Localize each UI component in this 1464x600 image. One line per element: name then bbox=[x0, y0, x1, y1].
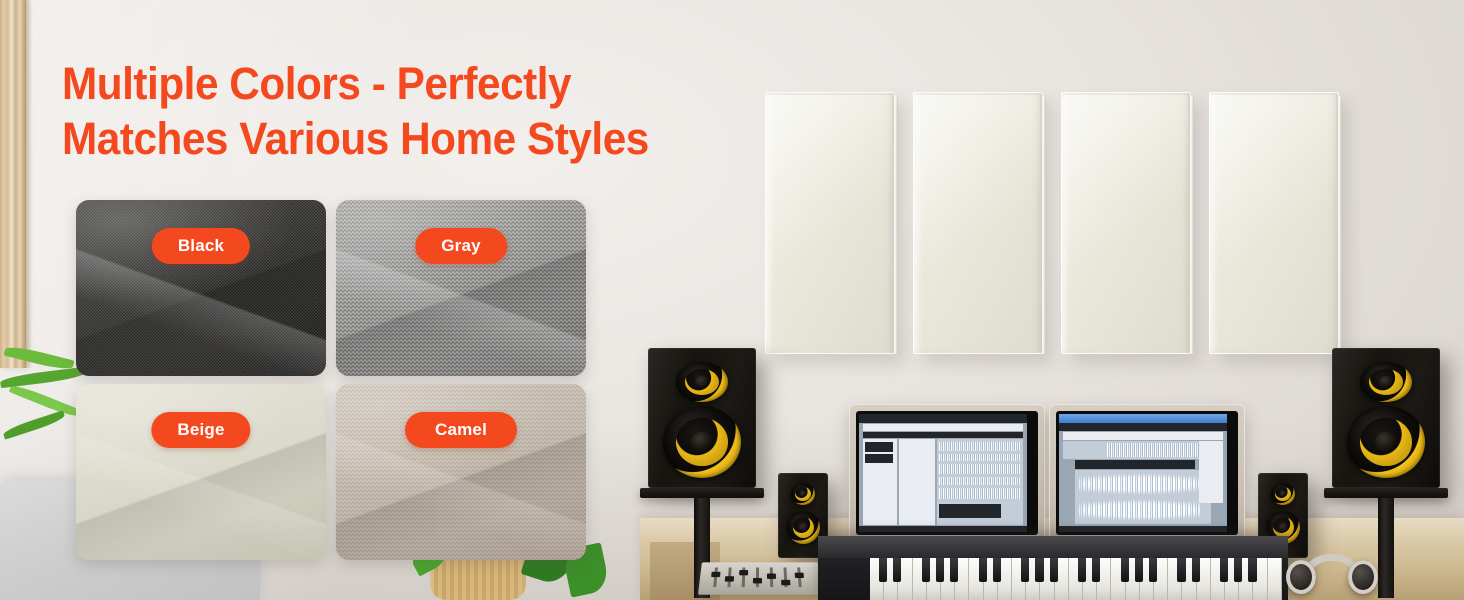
studio-monitor-speaker-right bbox=[1332, 348, 1440, 488]
tweeter-driver bbox=[1360, 362, 1412, 402]
daw-screen[interactable] bbox=[859, 414, 1027, 532]
tweeter-driver bbox=[1271, 483, 1295, 505]
wall-panel-2 bbox=[913, 92, 1043, 354]
midi-keyboard[interactable] bbox=[818, 536, 1288, 600]
headline-line-2: Matches Various Home Styles bbox=[62, 112, 701, 167]
swatch-card-beige[interactable]: Beige bbox=[76, 384, 326, 560]
page-title: Multiple Colors - Perfectly Matches Vari… bbox=[62, 57, 701, 167]
speaker-stand-plate bbox=[640, 488, 764, 498]
wall-panel-4 bbox=[1209, 92, 1339, 354]
monitor-bezel bbox=[849, 404, 1045, 551]
monitor-bezel bbox=[1049, 404, 1245, 551]
product-banner: Multiple Colors - Perfectly Matches Vari… bbox=[0, 0, 1464, 600]
headline-line-1: Multiple Colors - Perfectly bbox=[62, 57, 701, 112]
woofer-driver bbox=[663, 406, 741, 478]
woofer-driver bbox=[1347, 406, 1425, 478]
speaker-stand-pole bbox=[1378, 498, 1394, 598]
wall-panel-1 bbox=[765, 92, 895, 354]
panel-highlight bbox=[336, 384, 586, 560]
swatch-card-camel[interactable]: Camel bbox=[336, 384, 586, 560]
keyboard-control-panel bbox=[818, 536, 1288, 558]
headphone-earcup-right bbox=[1348, 560, 1378, 594]
woofer-driver bbox=[787, 511, 820, 544]
panel-highlight bbox=[76, 384, 326, 560]
speaker-cabinet bbox=[648, 348, 756, 488]
panel-highlight bbox=[76, 200, 326, 376]
swatch-label-black: Black bbox=[152, 228, 250, 264]
swatch-card-gray[interactable]: Gray bbox=[336, 200, 586, 376]
panel-highlight bbox=[336, 200, 586, 376]
color-swatch-grid: Black Gray Beige Camel bbox=[76, 200, 586, 560]
speaker-stand-plate bbox=[1324, 488, 1448, 498]
speaker-cabinet bbox=[1332, 348, 1440, 488]
mixer-console[interactable] bbox=[698, 562, 822, 594]
keyboard-keys[interactable] bbox=[870, 558, 1282, 600]
headphones bbox=[1286, 554, 1378, 594]
studio-monitor-speaker-left bbox=[648, 348, 756, 488]
wall-panel-3 bbox=[1061, 92, 1191, 354]
audio-editor-screen[interactable] bbox=[1059, 414, 1227, 532]
headphone-earcup-left bbox=[1286, 560, 1316, 594]
acoustic-wall-panels bbox=[765, 92, 1339, 354]
tweeter-driver bbox=[676, 362, 728, 402]
swatch-label-camel: Camel bbox=[405, 412, 517, 448]
swatch-card-black[interactable]: Black bbox=[76, 200, 326, 376]
swatch-label-gray: Gray bbox=[415, 228, 507, 264]
wooden-wall-trim bbox=[0, 0, 26, 368]
tweeter-driver bbox=[791, 483, 815, 505]
swatch-label-beige: Beige bbox=[151, 412, 250, 448]
